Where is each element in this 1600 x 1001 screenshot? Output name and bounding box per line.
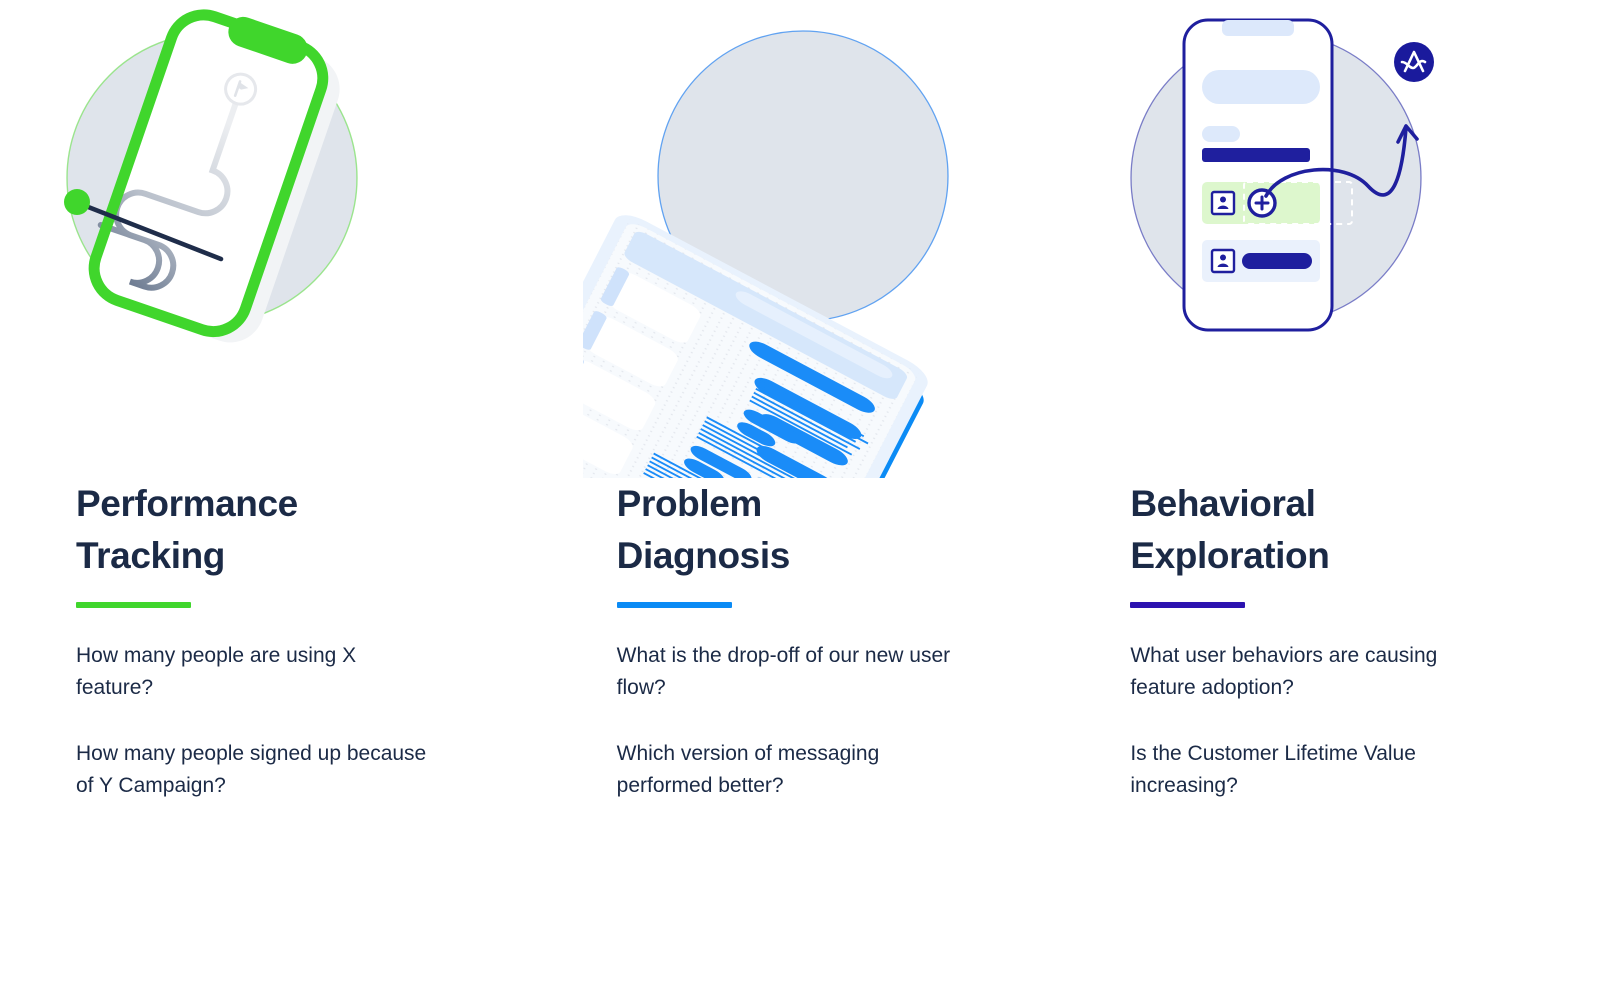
card-title: Performance Tracking	[76, 478, 472, 582]
illustration-behavioral-exploration	[1106, 8, 1526, 478]
question-item: Which version of messaging performed bet…	[617, 738, 977, 802]
illustration-problem-diagnosis	[583, 8, 1003, 478]
question-item: What is the drop-off of our new user flo…	[617, 640, 977, 704]
illustration-performance-tracking	[52, 8, 472, 478]
phone-body	[1184, 20, 1332, 330]
textblock-behavioral-exploration: Behavioral Exploration What user behavio…	[1106, 478, 1526, 802]
accent-underline	[76, 602, 191, 608]
phone-notch	[1222, 20, 1294, 36]
amplitude-logo-icon	[1394, 42, 1434, 82]
card-behavioral-exploration: Behavioral Exploration What user behavio…	[1106, 0, 1600, 1001]
plus-drag-handle-icon[interactable]	[1249, 190, 1275, 216]
question-list: What user behaviors are causing feature …	[1130, 640, 1526, 802]
textblock-performance-tracking: Performance Tracking How many people are…	[52, 478, 472, 802]
three-column-layout: Performance Tracking How many people are…	[0, 0, 1600, 1001]
question-list: How many people are using X feature? How…	[76, 640, 472, 802]
accent-underline	[1130, 602, 1245, 608]
start-dot	[64, 189, 90, 215]
navy-bar	[1202, 148, 1310, 162]
question-item: What user behaviors are causing feature …	[1130, 640, 1490, 704]
person-card-icon	[1212, 250, 1234, 272]
question-item: How many people are using X feature?	[76, 640, 436, 704]
question-item: Is the Customer Lifetime Value increasin…	[1130, 738, 1490, 802]
question-item: How many people signed up because of Y C…	[76, 738, 436, 802]
card-title: Behavioral Exploration	[1130, 478, 1526, 582]
textblock-problem-diagnosis: Problem Diagnosis What is the drop-off o…	[593, 478, 1013, 802]
card-title: Problem Diagnosis	[617, 478, 1013, 582]
person-card-icon	[1212, 192, 1234, 214]
card-problem-diagnosis: Problem Diagnosis What is the drop-off o…	[593, 0, 1087, 1001]
question-list: What is the drop-off of our new user flo…	[617, 640, 1013, 802]
accent-underline	[617, 602, 732, 608]
slide-canvas: Performance Tracking How many people are…	[0, 0, 1600, 1001]
card-performance-tracking: Performance Tracking How many people are…	[52, 0, 546, 1001]
